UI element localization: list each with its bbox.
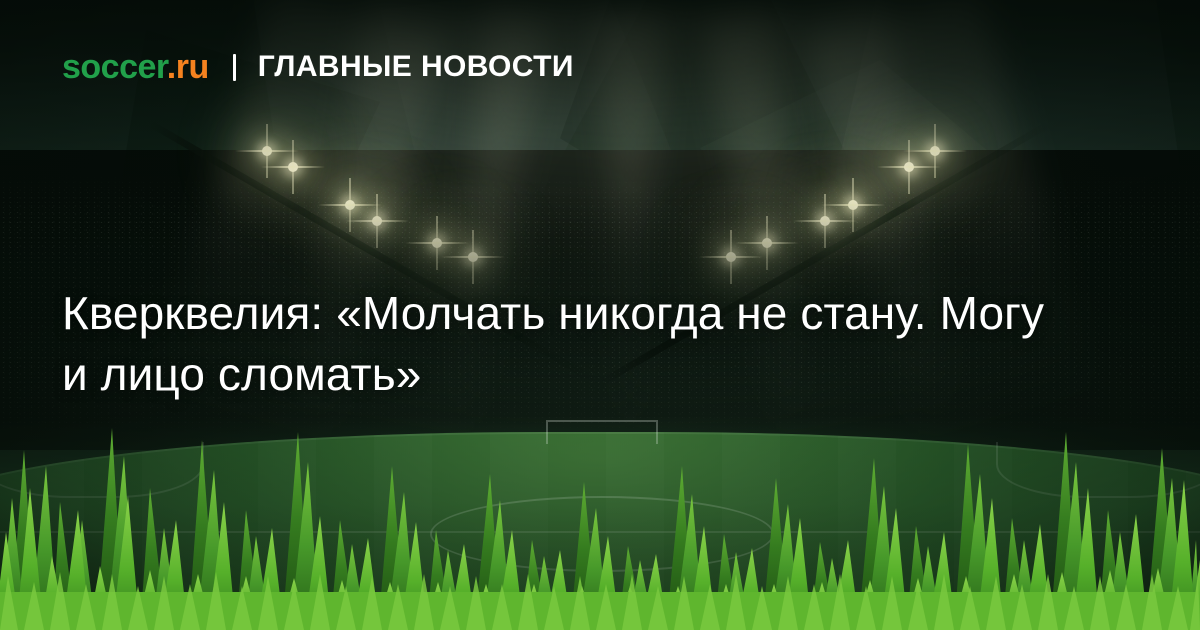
article-headline: Кверквелия: «Молчать никогда не стану. М… xyxy=(62,283,1062,404)
logo-text-dot: . xyxy=(167,48,176,86)
header-divider xyxy=(233,54,236,81)
section-title: ГЛАВНЫЕ НОВОСТИ xyxy=(258,52,574,82)
logo-text-soccer: soccer xyxy=(62,48,167,86)
logo-text-ru: ru xyxy=(176,48,209,86)
news-share-card: soccer.ru ГЛАВНЫЕ НОВОСТИ Кверквелия: «М… xyxy=(0,0,1200,630)
site-header: soccer.ru ГЛАВНЫЕ НОВОСТИ xyxy=(62,50,574,84)
site-logo[interactable]: soccer.ru xyxy=(62,50,209,84)
